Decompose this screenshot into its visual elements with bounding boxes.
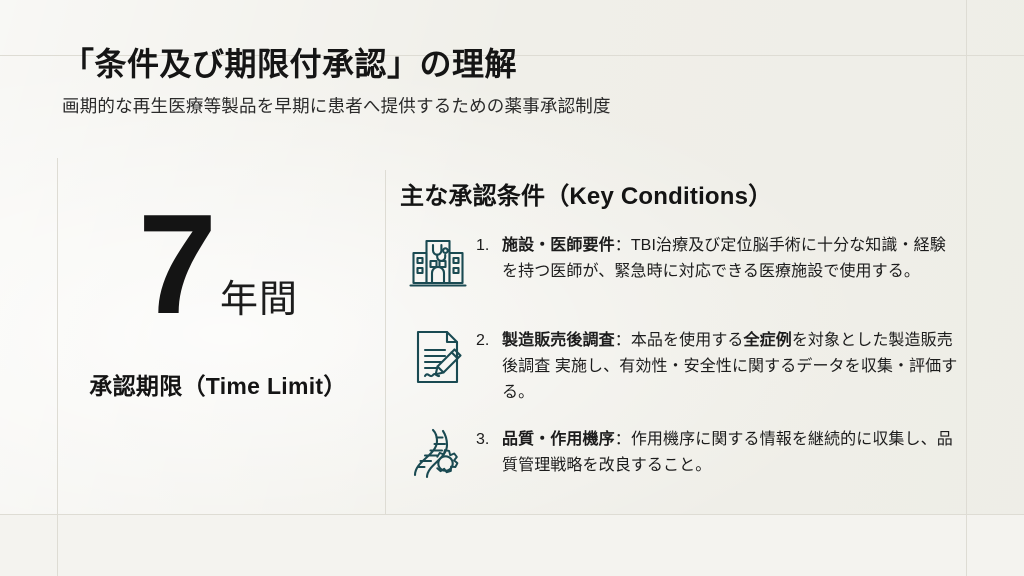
key-conditions-heading: 主な承認条件（Key Conditions）	[400, 176, 960, 211]
slide-header: 「条件及び期限付承認」の理解 画期的な再生医療等製品を早期に患者へ提供するための…	[62, 46, 942, 118]
condition-body-1: 本品を使用する	[631, 332, 744, 349]
page-subtitle: 画期的な再生医療等製品を早期に患者へ提供するための薬事承認制度	[62, 93, 942, 118]
condition-body: 1. 施設・医師要件：TBI治療及び定位脳手術に十分な知識・経験を持つ医師が、緊…	[476, 229, 960, 285]
guide-rule-right	[966, 0, 967, 576]
dna-gear-icon	[400, 423, 476, 501]
condition-text: 施設・医師要件：TBI治療及び定位脳手術に十分な知識・経験を持つ医師が、緊急時に…	[502, 233, 960, 285]
list-item: 3. 品質・作用機序：作用機序に関する情報を継続的に収集し、品質管理戦略を改良す…	[400, 423, 960, 501]
condition-text: 品質・作用機序：作用機序に関する情報を継続的に収集し、品質管理戦略を改良すること…	[502, 427, 960, 479]
condition-emphasis: 全症例	[744, 332, 792, 349]
time-limit-panel: 7 年間 承認期限（Time Limit）	[58, 200, 378, 401]
page-title: 「条件及び期限付承認」の理解	[62, 46, 942, 84]
list-item-number: 2.	[476, 328, 502, 406]
condition-lead: 製造販売後調査	[502, 332, 615, 349]
slide-canvas: 「条件及び期限付承認」の理解 画期的な再生医療等製品を早期に患者へ提供するための…	[0, 0, 1024, 576]
key-conditions-panel: 主な承認条件（Key Conditions）	[400, 176, 960, 518]
condition-body: 3. 品質・作用機序：作用機序に関する情報を継続的に収集し、品質管理戦略を改良す…	[476, 423, 960, 479]
condition-separator: ：	[615, 431, 631, 448]
panel-divider	[385, 170, 386, 515]
list-item-number: 1.	[476, 233, 502, 285]
time-limit-unit: 年間	[214, 281, 298, 331]
condition-lead: 品質・作用機序	[502, 431, 615, 448]
document-pencil-icon	[400, 324, 476, 402]
list-item-number: 3.	[476, 427, 502, 479]
condition-separator: ：	[615, 237, 631, 254]
list-item: 2. 製造販売後調査：本品を使用する全症例を対象とした製造販売後調査 実施し、有…	[400, 324, 960, 406]
time-limit-number: 7	[138, 200, 214, 331]
condition-text: 製造販売後調査：本品を使用する全症例を対象とした製造販売後調査 実施し、有効性・…	[502, 328, 960, 406]
condition-separator: ：	[615, 332, 631, 349]
time-limit-caption: 承認期限（Time Limit）	[58, 367, 378, 401]
list-item: 1. 施設・医師要件：TBI治療及び定位脳手術に十分な知識・経験を持つ医師が、緊…	[400, 229, 960, 307]
condition-lead: 施設・医師要件	[502, 237, 615, 254]
condition-body: 2. 製造販売後調査：本品を使用する全症例を対象とした製造販売後調査 実施し、有…	[476, 324, 960, 406]
hospital-stethoscope-icon	[400, 229, 476, 307]
footer-band	[0, 515, 1024, 576]
time-limit-value-row: 7 年間	[58, 200, 378, 331]
